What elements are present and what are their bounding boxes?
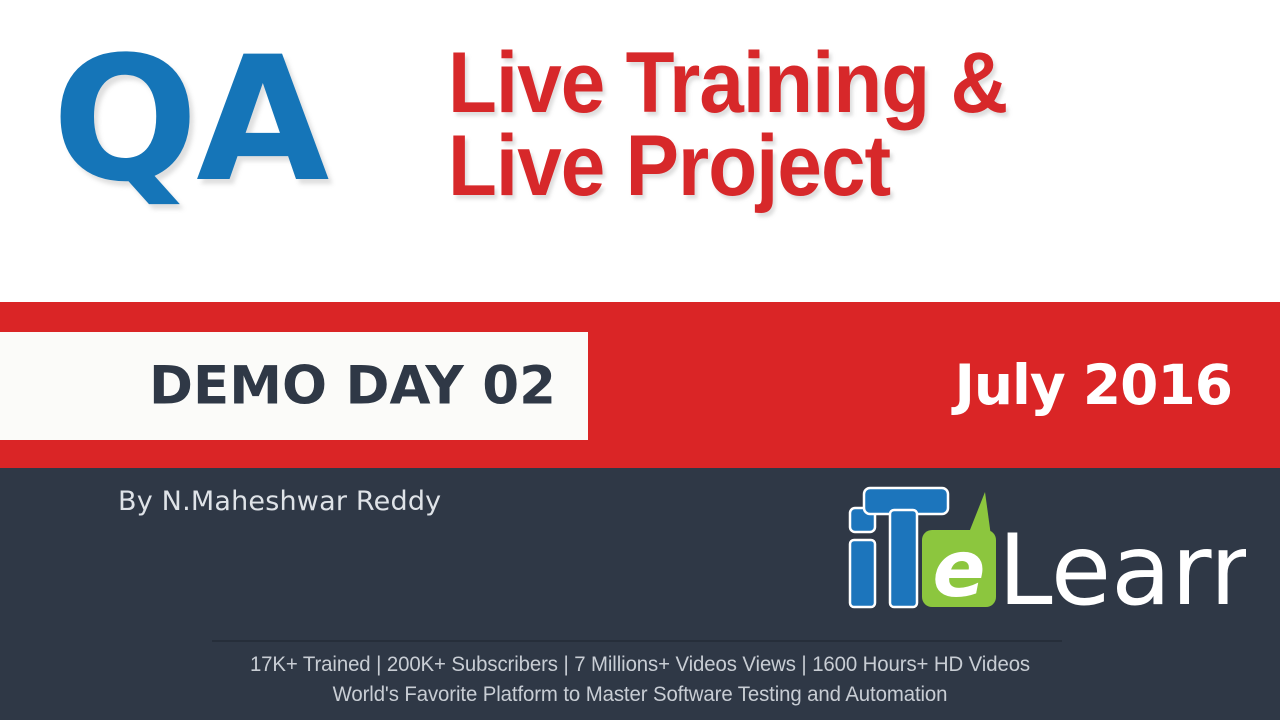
slide-footer: By N.Maheshwar Reddy e Learn 17K+ Traine… bbox=[0, 468, 1280, 720]
qa-brand-mark: QA bbox=[52, 34, 327, 206]
demo-day-label: DEMO DAY 02 bbox=[149, 356, 556, 417]
red-banner: DEMO DAY 02 July 2016 bbox=[0, 302, 1280, 468]
headline-line-2: Live Project bbox=[448, 125, 1007, 208]
svg-text:Learn: Learn bbox=[998, 514, 1246, 620]
headline-line-1: Live Training & bbox=[448, 42, 1007, 125]
month-year-label: July 2016 bbox=[954, 353, 1232, 417]
page-title: Live Training & Live Project bbox=[448, 42, 1007, 209]
footer-stats-line: 17K+ Trained | 200K+ Subscribers | 7 Mil… bbox=[19, 650, 1261, 680]
footer-credits: 17K+ Trained | 200K+ Subscribers | 7 Mil… bbox=[0, 650, 1280, 710]
demo-day-badge: DEMO DAY 02 bbox=[0, 332, 588, 440]
footer-tagline: World's Favorite Platform to Master Soft… bbox=[19, 680, 1261, 710]
svg-text:e: e bbox=[933, 525, 986, 615]
itelearn-logo: e Learn bbox=[846, 480, 1246, 620]
presenter-name: By N.Maheshwar Reddy bbox=[118, 486, 441, 517]
footer-divider bbox=[212, 640, 1062, 642]
slide-header: QA Live Training & Live Project bbox=[0, 0, 1280, 302]
presentation-slide: QA Live Training & Live Project DEMO DAY… bbox=[0, 0, 1280, 720]
